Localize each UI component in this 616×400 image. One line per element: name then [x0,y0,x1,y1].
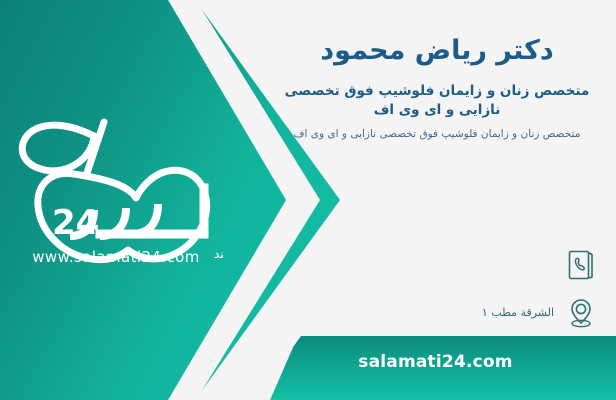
specialty-headline: متخصص زنان و زایمان فلوشیپ فوق تخصصی ناز… [272,82,602,121]
contact-list: الشرقة مطب ۱ [298,246,598,342]
business-card: 24 برای یک لبخند www.salamati24.com دکتر… [0,0,616,400]
logo-website-url[interactable]: www.salamati24.com [26,248,206,266]
contact-row-address[interactable]: الشرقة مطب ۱ [298,294,598,332]
contact-address-label: الشرقة مطب ۱ [482,305,554,320]
logo-number-24: 24 [52,203,99,243]
map-pin-icon [564,296,598,330]
card-content: دکتر ریاض محمود متخصص زنان و زایمان فلوش… [272,34,602,143]
footer-bar: salamati24.com [255,336,616,400]
phone-book-icon [564,248,598,282]
doctor-name: دکتر ریاض محمود [272,34,602,68]
logo-tagline: برای یک لبخند [214,247,223,262]
contact-row-phone[interactable] [298,246,598,284]
specialty-subline: متخصص زنان و زایمان فلوشیپ فوق تخصصی ناز… [272,127,602,143]
apple-leaf-icon [22,125,94,171]
footer-website[interactable]: salamati24.com [255,352,616,372]
